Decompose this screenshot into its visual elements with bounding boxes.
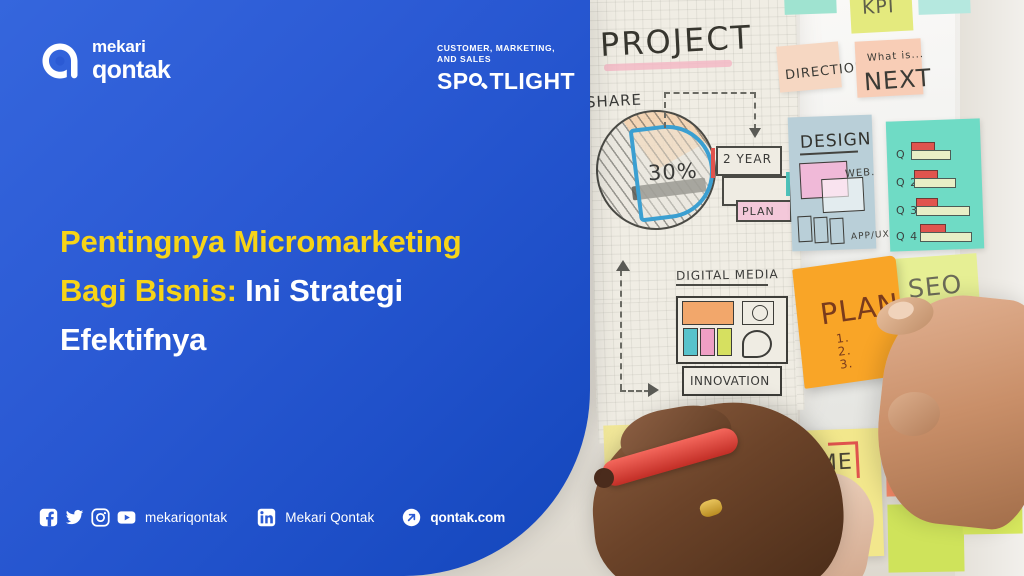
linkedin-icon[interactable] [257,508,276,527]
linkedin-handle-text: Mekari Qontak [285,510,374,525]
phone-doodle-3 [829,218,844,245]
arrow-right-icon [648,383,659,397]
sticky-note-design-sub1: WEB. [845,167,876,180]
quarter-bar-1 [911,150,951,160]
logo-wordmark: mekari qontak [92,38,170,83]
dashed-line-v3 [620,270,622,390]
accent-bar-red [711,148,715,178]
phone-doodle-2 [813,217,828,244]
social-handle-group: mekariqontak [39,508,227,527]
quarter-bar-4 [920,232,972,242]
blue-content-panel: mekari qontak CUSTOMER, MARKETING, AND S… [0,0,590,576]
ui-bar-3 [717,328,732,356]
dashed-line-h3 [620,390,650,392]
quarter-label-3: Q 3 [896,204,918,217]
spotlight-kicker-line1: CUSTOMER, MARKETING, [437,43,575,54]
slide-canvas: 30% PROJECT SHARE 2 YEAR PLAN DIGITAL ME… [0,0,1024,576]
spotlight-word-part1: SP [437,68,468,95]
qontak-logo-mark-icon [40,41,80,81]
play-button-doodle [742,301,774,325]
sticky-note-mint [783,0,837,15]
footer-social-bar: mekariqontak Mekari Qontak qontak.co [39,508,505,527]
whiteboard-title: PROJECT [599,18,753,64]
dashed-line-v2 [754,92,756,130]
dashed-line-horizontal [664,92,756,94]
phone-doodle-1 [797,216,812,243]
quarter-label-4: Q 4 [896,230,918,243]
quarter-bar-3 [916,206,970,216]
sticky-note-kpi-label: KPI [861,0,895,19]
headline-line2-rest: Ini Strategi [237,273,403,308]
headline-line3: Efektifnya [60,322,206,357]
label-two-year: 2 YEAR [723,152,772,166]
page-title: Pentingnya Micromarketing Bagi Bisnis: I… [60,217,560,364]
youtube-icon[interactable] [117,508,136,527]
sticky-note-teal-top [917,0,970,15]
instagram-icon[interactable] [91,508,110,527]
mekari-qontak-logo[interactable]: mekari qontak [40,38,170,83]
digital-media-underline [676,284,768,286]
headline-line2-highlight: Bagi Bisnis: [60,273,237,308]
arrow-up-icon [616,260,630,271]
logo-text-mekari: mekari [92,38,170,55]
social-handle-text: mekariqontak [145,510,227,525]
spotlight-kicker-line2: AND SALES [437,54,575,65]
ui-bar-1 [683,328,698,356]
spotlight-wordmark: SP TLIGHT [437,68,575,95]
spotlight-word-part2: TLIGHT [489,68,574,95]
facebook-icon[interactable] [39,508,58,527]
social-icon-row [39,508,136,527]
label-share: SHARE [586,91,643,112]
label-innovation: INNOVATION [690,374,770,388]
sticky-note-design-label: DESIGN [800,129,872,153]
logo-text-qontak: qontak [92,58,170,83]
dashed-line-v1 [664,92,666,128]
linkedin-group: Mekari Qontak [257,508,374,527]
arrow-down-icon [749,128,761,138]
sticky-note-next-label: NEXT [863,64,933,97]
twitter-icon[interactable] [65,508,84,527]
pie-value-label: 30% [647,159,698,186]
label-plan-small: PLAN [742,205,775,218]
ui-banner-block [682,301,734,325]
label-digital-media: DIGITAL MEDIA [676,267,779,283]
website-text: qontak.com [430,510,505,525]
speech-bubble-doodle [742,330,772,358]
arrow-up-right-circle-icon[interactable] [402,508,421,527]
quarter-bar-2 [914,178,956,188]
spotlight-magnifier-o-icon [469,72,488,91]
headline-line1: Pentingnya Micromarketing [60,224,462,259]
ui-bar-2 [700,328,715,356]
design-window-doodle-2 [821,177,865,213]
spotlight-branding: CUSTOMER, MARKETING, AND SALES SP TLIGHT [437,43,575,95]
website-group[interactable]: qontak.com [402,508,505,527]
